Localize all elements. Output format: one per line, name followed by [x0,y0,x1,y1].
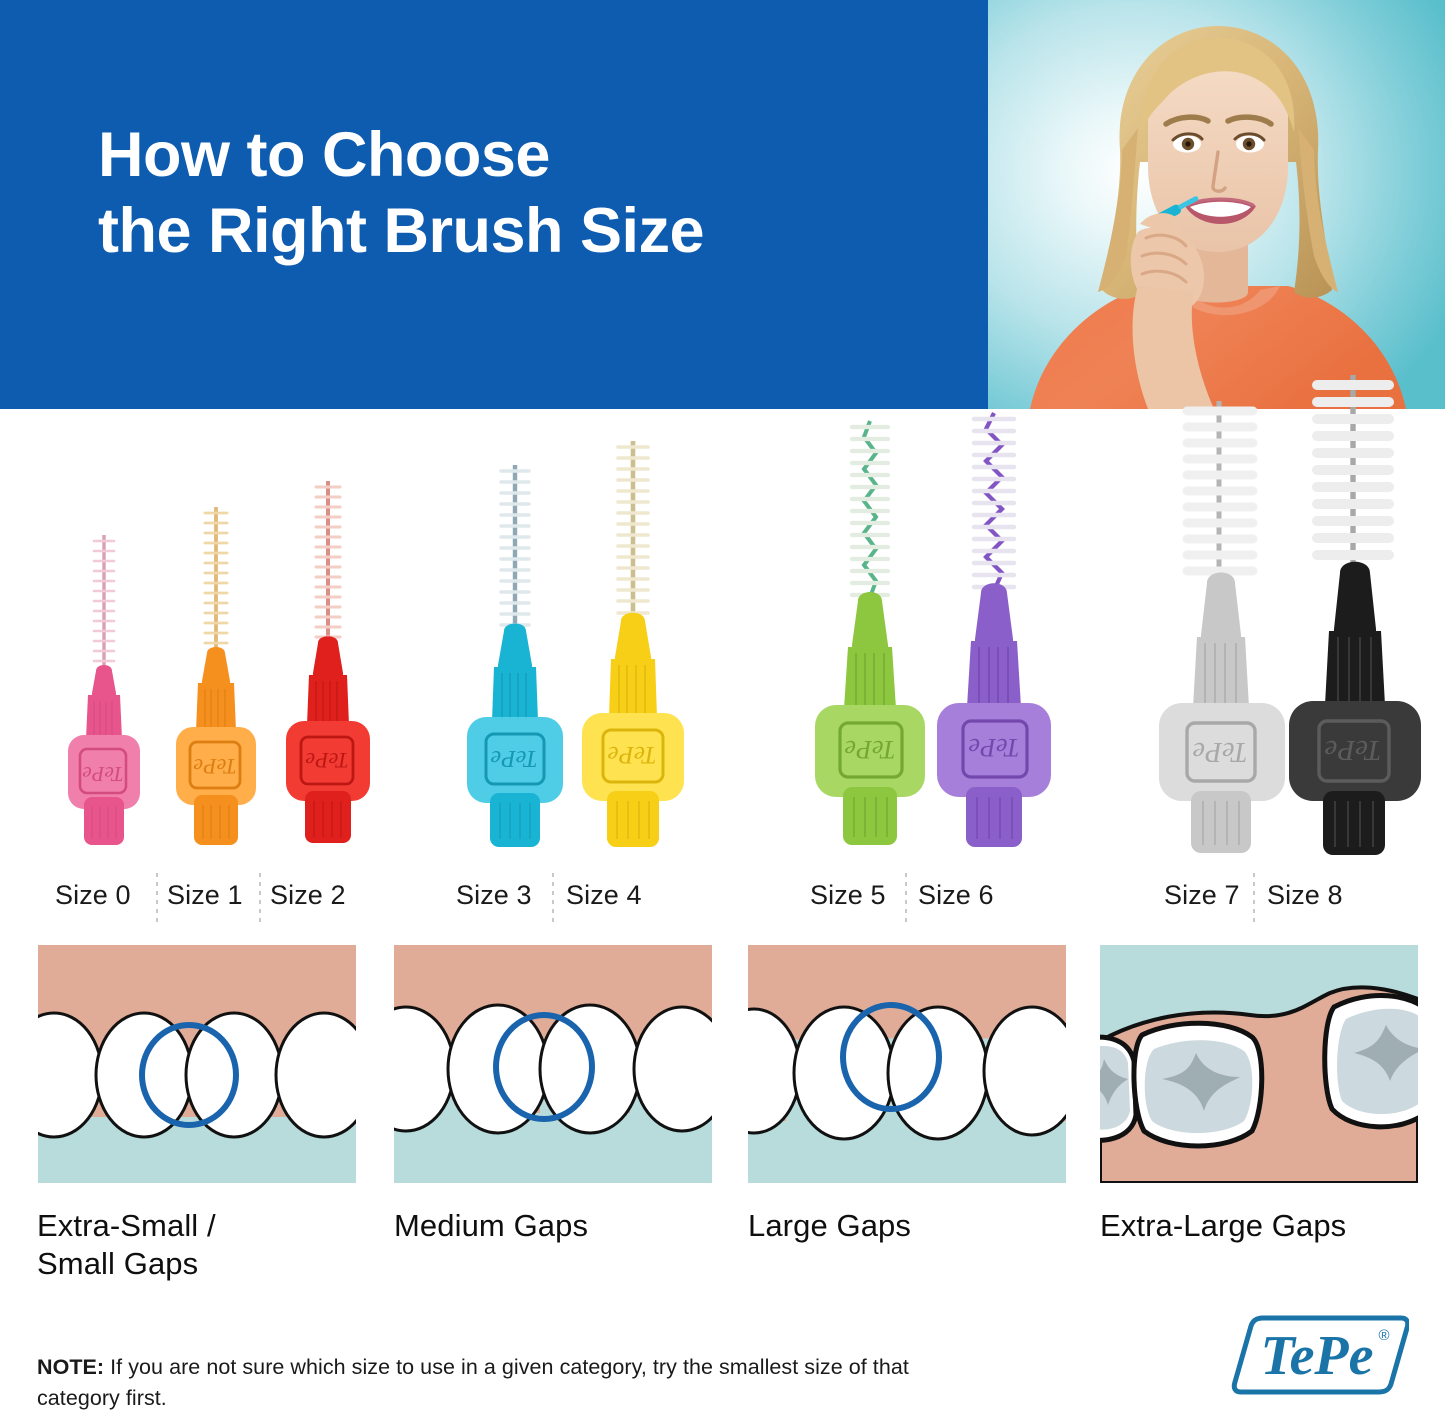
svg-text:TePe: TePe [1324,734,1381,766]
size-label-8: Size 8 [1267,880,1343,911]
size-label-5: Size 5 [810,880,886,911]
svg-text:TePe: TePe [844,735,895,764]
brush-size-5[interactable]: TePe [804,407,936,857]
tepe-logo: TePe ® [1229,1306,1409,1402]
brush-size-6[interactable]: TePe [926,395,1062,857]
size-label-3: Size 3 [456,880,532,911]
size-label-4: Size 4 [566,880,642,911]
size-label-7: Size 7 [1164,880,1240,911]
category-label-medium: Medium Gaps [394,1207,588,1245]
svg-text:TePe: TePe [82,762,123,786]
brush-size-0[interactable]: TePe [50,477,158,857]
note-body: If you are not sure which size to use in… [37,1355,909,1410]
category-label-large: Large Gaps [748,1207,911,1245]
hero-photo [988,0,1445,409]
size-divider-0-1 [156,873,158,925]
brush-group-large: TePe [800,409,1020,879]
brush-group-medium: TePe [445,409,665,879]
svg-text:TePe: TePe [1193,736,1248,767]
brush-group-extra-large: TePe [1145,409,1395,879]
brush-group-extra-small-small: TePe [38,409,368,879]
note-prefix: NOTE: [37,1355,104,1379]
size-label-6: Size 6 [918,880,994,911]
size-divider-7-8 [1253,873,1255,925]
svg-text:TePe: TePe [193,754,236,779]
gap-diagram-row [0,945,1445,1185]
header-banner: How to Choose the Right Brush Size [0,0,1445,409]
category-label-extra-large: Extra-Large Gaps [1100,1207,1346,1245]
brush-size-7[interactable]: TePe [1147,375,1297,857]
gap-panel-extra-large [1100,945,1418,1183]
page-title: How to Choose the Right Brush Size [98,118,918,269]
size-label-row: Size 0 Size 1 Size 2 Size 3 Size 4 Size … [0,880,1445,922]
size-label-1: Size 1 [167,880,243,911]
logo-wordmark: TePe [1261,1325,1374,1387]
svg-text:TePe: TePe [968,733,1019,762]
size-label-0: Size 0 [55,880,131,911]
category-label-row: Extra-Small / Small Gaps Medium Gaps Lar… [0,1207,1445,1307]
svg-text:TePe: TePe [607,741,656,768]
brush-size-1[interactable]: TePe [160,465,272,857]
gap-panel-extra-small-small [38,945,356,1183]
gap-panel-medium [394,945,712,1183]
svg-text:TePe: TePe [305,748,348,773]
size-divider-3-4 [552,873,554,925]
brush-size-4[interactable]: TePe [569,425,697,857]
woman-illustration [988,0,1445,409]
size-label-2: Size 2 [270,880,346,911]
gap-panel-large [748,945,1066,1183]
registered-mark: ® [1378,1327,1389,1344]
size-divider-5-6 [905,873,907,925]
note-text: NOTE: If you are not sure which size to … [37,1352,917,1414]
category-label-extra-small-small: Extra-Small / Small Gaps [37,1207,216,1284]
brush-size-3[interactable]: TePe [453,437,577,857]
size-divider-1-2 [259,873,261,925]
svg-text:TePe: TePe [490,745,537,771]
brush-lineup: TePe [0,409,1445,879]
brush-size-2[interactable]: TePe [270,453,386,857]
brush-size-8[interactable]: TePe [1277,361,1433,857]
